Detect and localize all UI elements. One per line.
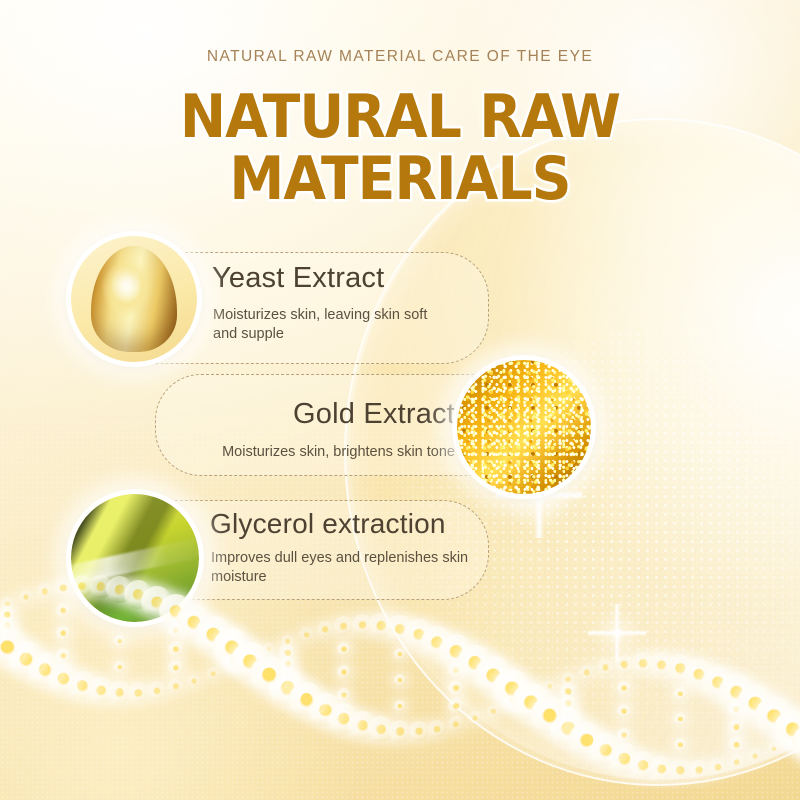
pearl-bead (774, 710, 800, 748)
ingredient-thumb-yeast-extract (66, 231, 202, 367)
pearl-bead (108, 681, 131, 704)
pearl-bead (0, 628, 26, 665)
pearl-bead (299, 627, 314, 642)
pearl-bead (609, 743, 640, 774)
pearl-bead (792, 724, 800, 762)
pearl-bead (475, 656, 512, 693)
pearl-bead (281, 635, 294, 648)
pearl-bead (168, 678, 184, 694)
pearl-bead (709, 758, 727, 776)
olive-oil-icon (71, 494, 199, 622)
pearl-bead (279, 656, 296, 673)
pearl-bead (784, 729, 800, 747)
pearl-bead (561, 672, 575, 686)
ingredient-thumb-glycerol-extraction (66, 489, 204, 627)
pearl-bead (56, 648, 70, 662)
pearl-bead (543, 680, 556, 693)
pearl-bead (334, 616, 353, 635)
pearl-bead (394, 700, 406, 712)
pearl-bead (394, 674, 406, 686)
pearl-bead (279, 644, 296, 661)
pearl-bead (244, 651, 256, 663)
pearl-bead (737, 685, 773, 721)
pearl-bead (579, 665, 594, 680)
pearl-bead (728, 719, 744, 735)
pearl-bead (649, 652, 674, 677)
pearl-bead (404, 619, 434, 649)
pearl-bead (309, 693, 342, 726)
pearl-bead (448, 698, 464, 714)
pearl-bead (503, 690, 521, 708)
pearl-bead (168, 641, 184, 657)
pearl-bead (448, 662, 464, 678)
pearl-bead (719, 674, 754, 709)
pearl-bead (674, 687, 686, 699)
pearl-bead (48, 663, 79, 694)
pearl-bead (0, 627, 16, 644)
pearl-bead (503, 687, 521, 705)
pearl-bead (317, 621, 334, 638)
pearl-bead (168, 622, 184, 638)
pearl-bead (223, 643, 241, 661)
pearl-bead (337, 665, 351, 679)
pearl-bead (114, 661, 126, 673)
pearl-bead (207, 667, 220, 680)
pearl-bead (250, 656, 288, 694)
pearl-bead (560, 695, 577, 712)
pearl-bead (56, 626, 70, 640)
pearl-bead (148, 681, 166, 699)
pearl-bead (784, 726, 800, 744)
pearl-bead (279, 667, 296, 684)
pearl-bead (525, 689, 537, 701)
pearl-bead (439, 634, 473, 668)
pearl-bead (617, 681, 631, 695)
pearl-bead (617, 704, 631, 718)
pearl-bead (787, 734, 799, 746)
pearl-bead (88, 677, 114, 703)
ingredient-title-glycerol-extraction: Glycerol extraction (210, 508, 446, 540)
poster-canvas: NATURAL RAW MATERIAL CARE OF THE EYE NAT… (0, 0, 800, 800)
pearl-bead (369, 613, 393, 637)
pearl-bead (506, 697, 518, 709)
pearl-bead (386, 615, 413, 642)
pearl-bead (368, 716, 394, 742)
pearl-bead (589, 733, 622, 766)
pearl-bead (352, 614, 374, 636)
pearl-bead (448, 716, 464, 732)
pearl-bead (213, 628, 251, 666)
pearl-bead (19, 590, 34, 605)
pearl-bead (728, 736, 744, 752)
pearl-bead (0, 606, 16, 623)
pearl-bead (421, 626, 453, 658)
pearl-bead (748, 749, 762, 763)
pearl-bead (674, 738, 686, 750)
ingredient-title-yeast-extract: Yeast Extract (212, 262, 384, 295)
pearl-bead (503, 683, 521, 701)
pearl-bead (289, 682, 324, 717)
pearl-bead (617, 728, 631, 742)
pearl-bead (560, 683, 577, 700)
pearl-bead (768, 742, 781, 755)
pearl-bead (226, 660, 238, 672)
pearl-bead (487, 705, 500, 718)
pearl-bead (784, 723, 800, 741)
pearl-bead (468, 711, 482, 725)
pearl-bead (569, 722, 604, 757)
pearl-bead (269, 669, 306, 706)
pearl-bead (223, 652, 241, 670)
pearl-bead (231, 642, 269, 680)
pearl-bead (457, 645, 493, 681)
pearl-bead (550, 710, 586, 746)
pearl-bead (394, 648, 406, 660)
pearl-bead (223, 648, 241, 666)
pearl-bead (263, 643, 275, 655)
pearl-bead (667, 654, 694, 681)
pearl-bead (68, 671, 97, 700)
pearl-bead (114, 635, 126, 647)
pearl-bead (1, 597, 14, 610)
pearl-bead (531, 696, 568, 733)
pearl-bead (28, 653, 62, 687)
page-eyebrow: NATURAL RAW MATERIAL CARE OF THE EYE (0, 48, 800, 66)
pearl-bead (560, 707, 577, 724)
pearl-bead (674, 713, 686, 725)
gold-glitter-icon (457, 360, 591, 494)
ingredient-desc-gold-extract: Moisturizes skin, brightens skin tone (155, 443, 455, 462)
pearl-bead (689, 760, 709, 780)
pearl-bead (493, 669, 531, 707)
ingredient-desc-glycerol-extraction: Improves dull eyes and replenishes skin … (211, 549, 469, 587)
page-title: NATURAL RAW MATERIALS (32, 86, 768, 210)
ingredient-desc-yeast-extract: Moisturizes skin, leaving skin soft and … (213, 306, 453, 344)
pearl-bead (337, 688, 351, 702)
pearl-bead (755, 697, 792, 734)
pearl-bead (195, 616, 232, 653)
pearl-bead (684, 659, 714, 689)
pearl-bead (328, 703, 359, 734)
pearl-bead (37, 583, 53, 599)
pearl-bead (168, 660, 184, 676)
pearl-bead (8, 641, 43, 676)
pearl-bead (348, 711, 376, 739)
pearl-bead (428, 720, 446, 738)
pearl-bead (669, 759, 692, 782)
pearl-bead (0, 617, 16, 634)
ingredient-thumb-gold-extract (452, 355, 596, 499)
pearl-bead (649, 756, 674, 781)
pearl-bead (512, 683, 550, 721)
pearl-bead (337, 642, 351, 656)
sparkle-star-icon (588, 604, 646, 662)
ingredient-title-gold-extract: Gold Extract (155, 398, 455, 431)
pearl-bead (389, 720, 412, 743)
pearl-bead (629, 751, 657, 779)
pearl-bead (0, 615, 8, 653)
pearl-bead (448, 680, 464, 696)
pearl-bead (128, 682, 149, 703)
pearl-bead (409, 721, 429, 741)
pearl-bead (729, 754, 744, 769)
pearl-bead (728, 701, 744, 717)
pearl-bead (56, 603, 70, 617)
pearl-bead (702, 666, 734, 698)
pearl-bead (187, 674, 201, 688)
